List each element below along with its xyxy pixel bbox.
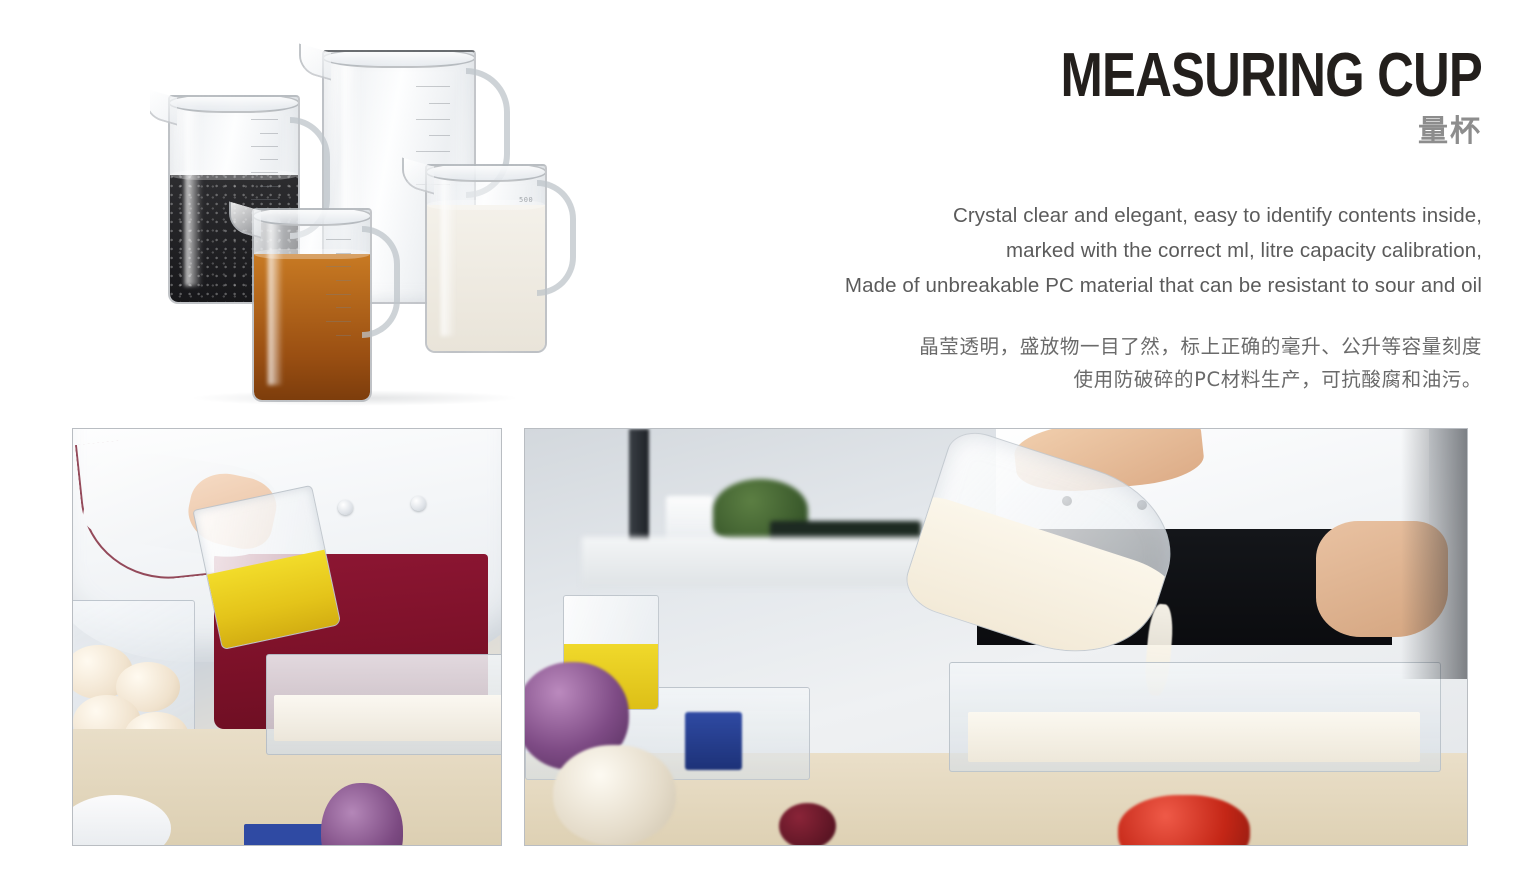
description-chinese-line-2: 使用防破碎的PC材料生产，可抗酸腐和油污。: [562, 363, 1482, 396]
cup-gloss: [441, 173, 456, 336]
description-chinese: 晶莹透明，盛放物一目了然，标上正确的毫升、公升等容量刻度 使用防破碎的PC材料生…: [562, 330, 1482, 396]
lifestyle-photo-pouring-milk: [524, 428, 1468, 846]
description-english: Crystal clear and elegant, easy to ident…: [562, 198, 1482, 303]
cup-rim: [168, 95, 300, 113]
measuring-cup-with-tea: [252, 208, 368, 398]
cup-spout: [150, 88, 177, 125]
cup-rim: [425, 164, 547, 182]
page-title-english: MEASURING CUP: [777, 46, 1482, 106]
blue-bottle-cap: [685, 712, 742, 770]
description-english-line-2: marked with the correct ml, litre capaci…: [562, 233, 1482, 268]
white-onion: [553, 745, 675, 845]
cup-capacity-marking: 500: [519, 196, 533, 204]
food-pan-contents: [274, 695, 502, 741]
measuring-cup-with-milk: 500: [425, 164, 543, 349]
product-hero-image: 500: [150, 40, 630, 420]
headline-block: MEASURING CUP 量杯: [622, 46, 1482, 149]
cup-rim: [252, 208, 372, 226]
cup-rim: [322, 50, 476, 68]
cherry: [779, 803, 836, 846]
background-shelf: [582, 537, 959, 587]
food-pan-contents: [968, 712, 1420, 762]
description-english-line-3: Made of unbreakable PC material that can…: [562, 268, 1482, 303]
photo-vignette: [1401, 429, 1467, 679]
cup-gloss: [268, 218, 283, 385]
chef-coat-button: [411, 496, 426, 511]
page-title-chinese: 量杯: [622, 115, 1482, 149]
hero-section: 500: [0, 0, 1515, 420]
product-banner: 500: [0, 0, 1515, 875]
chef-coat-button: [338, 500, 353, 515]
description-english-line-1: Crystal clear and elegant, easy to ident…: [562, 198, 1482, 233]
cup-scale-markings: [312, 225, 351, 362]
cup-spout: [299, 43, 331, 80]
cup-gloss: [185, 105, 202, 285]
lifestyle-photo-pouring-oil: [72, 428, 502, 846]
description-chinese-line-1: 晶莹透明，盛放物一目了然，标上正确的毫升、公升等容量刻度: [562, 330, 1482, 363]
